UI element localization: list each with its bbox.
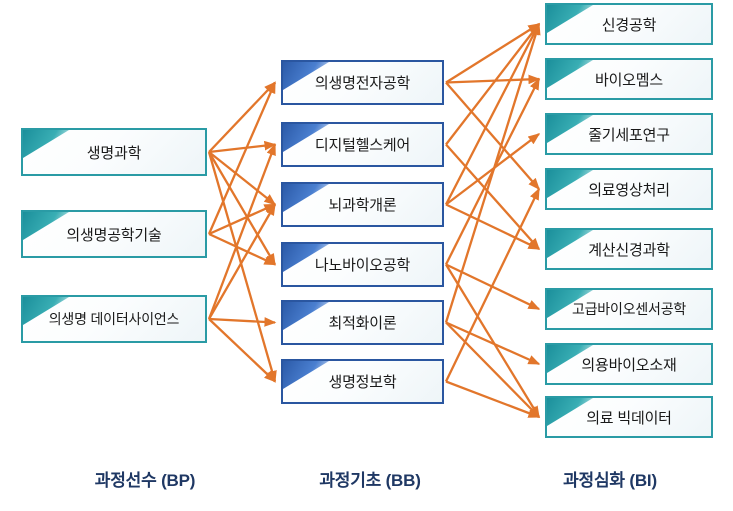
course-node-label: 의생명 데이터사이언스 <box>49 309 180 329</box>
edge-bp1-to-bb6 <box>209 152 275 382</box>
node-corner-accent-icon <box>283 361 329 389</box>
node-corner-accent-icon <box>547 230 593 258</box>
course-node-label: 의생명공학기술 <box>66 224 161 245</box>
course-node-label: 고급바이오센서공학 <box>572 299 686 319</box>
edge-bb4-to-bi6 <box>446 265 539 310</box>
node-corner-accent-icon <box>547 170 593 198</box>
course-node-bb1[interactable]: 의생명전자공학 <box>281 60 444 105</box>
course-node-label: 생명정보학 <box>328 371 396 392</box>
course-node-label: 최적화이론 <box>328 312 396 333</box>
course-node-bi4[interactable]: 의료영상처리 <box>545 168 713 210</box>
node-corner-accent-icon <box>547 115 593 143</box>
course-node-bi5[interactable]: 계산신경과학 <box>545 228 713 270</box>
column-caption-bp: 과정선수 (BP) <box>65 466 225 491</box>
node-corner-accent-icon <box>283 302 329 330</box>
course-node-bb5[interactable]: 최적화이론 <box>281 300 444 345</box>
course-node-bi1[interactable]: 신경공학 <box>545 3 713 45</box>
course-node-bi2[interactable]: 바이오멤스 <box>545 58 713 100</box>
edge-bp3-to-bb6 <box>209 319 275 382</box>
node-corner-accent-icon <box>283 184 329 212</box>
course-node-label: 뇌과학개론 <box>328 194 396 215</box>
edge-bb4-to-bi2 <box>446 79 539 265</box>
edge-bb6-to-bi4 <box>446 189 539 382</box>
edge-bb3-to-bi5 <box>446 205 539 250</box>
edge-bb5-to-bi1 <box>446 24 539 323</box>
course-node-label: 줄기세포연구 <box>588 124 670 145</box>
edge-bb3-to-bi1 <box>446 24 539 205</box>
edge-bb3-to-bi3 <box>446 134 539 205</box>
edge-bp3-to-bb2 <box>209 145 275 320</box>
course-node-bp1[interactable]: 생명과학 <box>21 128 207 176</box>
node-corner-accent-icon <box>547 60 593 88</box>
course-node-label: 신경공학 <box>602 14 656 35</box>
course-node-bi8[interactable]: 의료 빅데이터 <box>545 396 713 438</box>
course-node-label: 생명과학 <box>87 142 141 163</box>
node-corner-accent-icon <box>547 5 593 33</box>
course-node-label: 의생명전자공학 <box>315 72 410 93</box>
course-node-label: 바이오멤스 <box>595 69 663 90</box>
course-node-bi7[interactable]: 의용바이오소재 <box>545 343 713 385</box>
column-caption-bb: 과정기초 (BB) <box>290 466 450 491</box>
course-node-bi6[interactable]: 고급바이오센서공학 <box>545 288 713 330</box>
column-caption-bi: 과정심화 (BI) <box>530 466 690 491</box>
edge-bb1-to-bi2 <box>446 79 539 83</box>
edge-bp2-to-bb3 <box>209 205 275 235</box>
diagram-canvas: 생명과학의생명공학기술의생명 데이터사이언스의생명전자공학디지털헬스케어뇌과학개… <box>0 0 733 511</box>
edge-bp2-to-bb4 <box>209 234 275 265</box>
course-node-bb4[interactable]: 나노바이오공학 <box>281 242 444 287</box>
edge-bb2-to-bi1 <box>446 24 539 145</box>
course-node-bb6[interactable]: 생명정보학 <box>281 359 444 404</box>
course-node-label: 의료영상처리 <box>588 179 670 200</box>
edge-bp1-to-bb1 <box>209 83 275 153</box>
edge-bb2-to-bi5 <box>446 145 539 250</box>
edge-bb5-to-bi8 <box>446 323 539 418</box>
edge-bb1-to-bi1 <box>446 24 539 83</box>
course-node-bi3[interactable]: 줄기세포연구 <box>545 113 713 155</box>
edge-bb4-to-bi8 <box>446 265 539 418</box>
node-corner-accent-icon <box>23 130 69 158</box>
course-node-label: 의용바이오소재 <box>581 354 676 375</box>
edge-bb1-to-bi4 <box>446 83 539 190</box>
course-node-label: 나노바이오공학 <box>315 254 410 275</box>
edge-bp3-to-bb3 <box>209 205 275 320</box>
course-node-label: 디지털헬스케어 <box>315 134 410 155</box>
node-corner-accent-icon <box>23 212 69 240</box>
edge-bp1-to-bb4 <box>209 152 275 265</box>
edge-bb6-to-bi8 <box>446 382 539 418</box>
course-node-bb2[interactable]: 디지털헬스케어 <box>281 122 444 167</box>
edge-bp1-to-bb2 <box>209 145 275 153</box>
course-node-bp3[interactable]: 의생명 데이터사이언스 <box>21 295 207 343</box>
course-node-label: 계산신경과학 <box>588 239 670 260</box>
course-node-bp2[interactable]: 의생명공학기술 <box>21 210 207 258</box>
edge-bp2-to-bb1 <box>209 83 275 235</box>
edge-bp1-to-bb3 <box>209 152 275 205</box>
course-node-bb3[interactable]: 뇌과학개론 <box>281 182 444 227</box>
edge-bb5-to-bi7 <box>446 323 539 365</box>
course-node-label: 의료 빅데이터 <box>586 407 672 428</box>
edge-bp3-to-bb5 <box>209 319 275 323</box>
